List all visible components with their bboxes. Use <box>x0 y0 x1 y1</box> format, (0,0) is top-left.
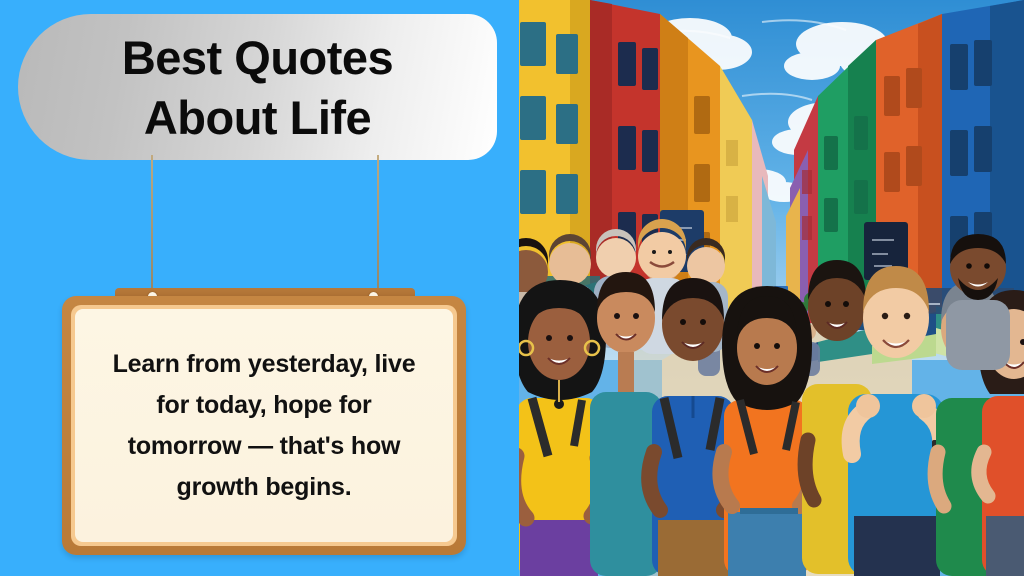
poster-canvas: Best Quotes About Life Learn from yester… <box>0 0 1024 576</box>
city-street-crowd-illustration <box>512 0 1024 576</box>
quote-board-inner-border: Learn from yesterday, live for today, ho… <box>71 305 457 546</box>
quote-board: Learn from yesterday, live for today, ho… <box>62 296 466 555</box>
hanging-string-left <box>151 155 153 292</box>
hanging-string-right <box>377 155 379 292</box>
title-line-2: About Life <box>144 94 371 141</box>
left-panel: Best Quotes About Life Learn from yester… <box>0 0 512 576</box>
title-banner: Best Quotes About Life <box>18 14 497 160</box>
quote-text: Learn from yesterday, live for today, ho… <box>97 344 431 508</box>
quote-board-face: Learn from yesterday, live for today, ho… <box>75 309 453 542</box>
title-line-1: Best Quotes <box>122 34 393 81</box>
